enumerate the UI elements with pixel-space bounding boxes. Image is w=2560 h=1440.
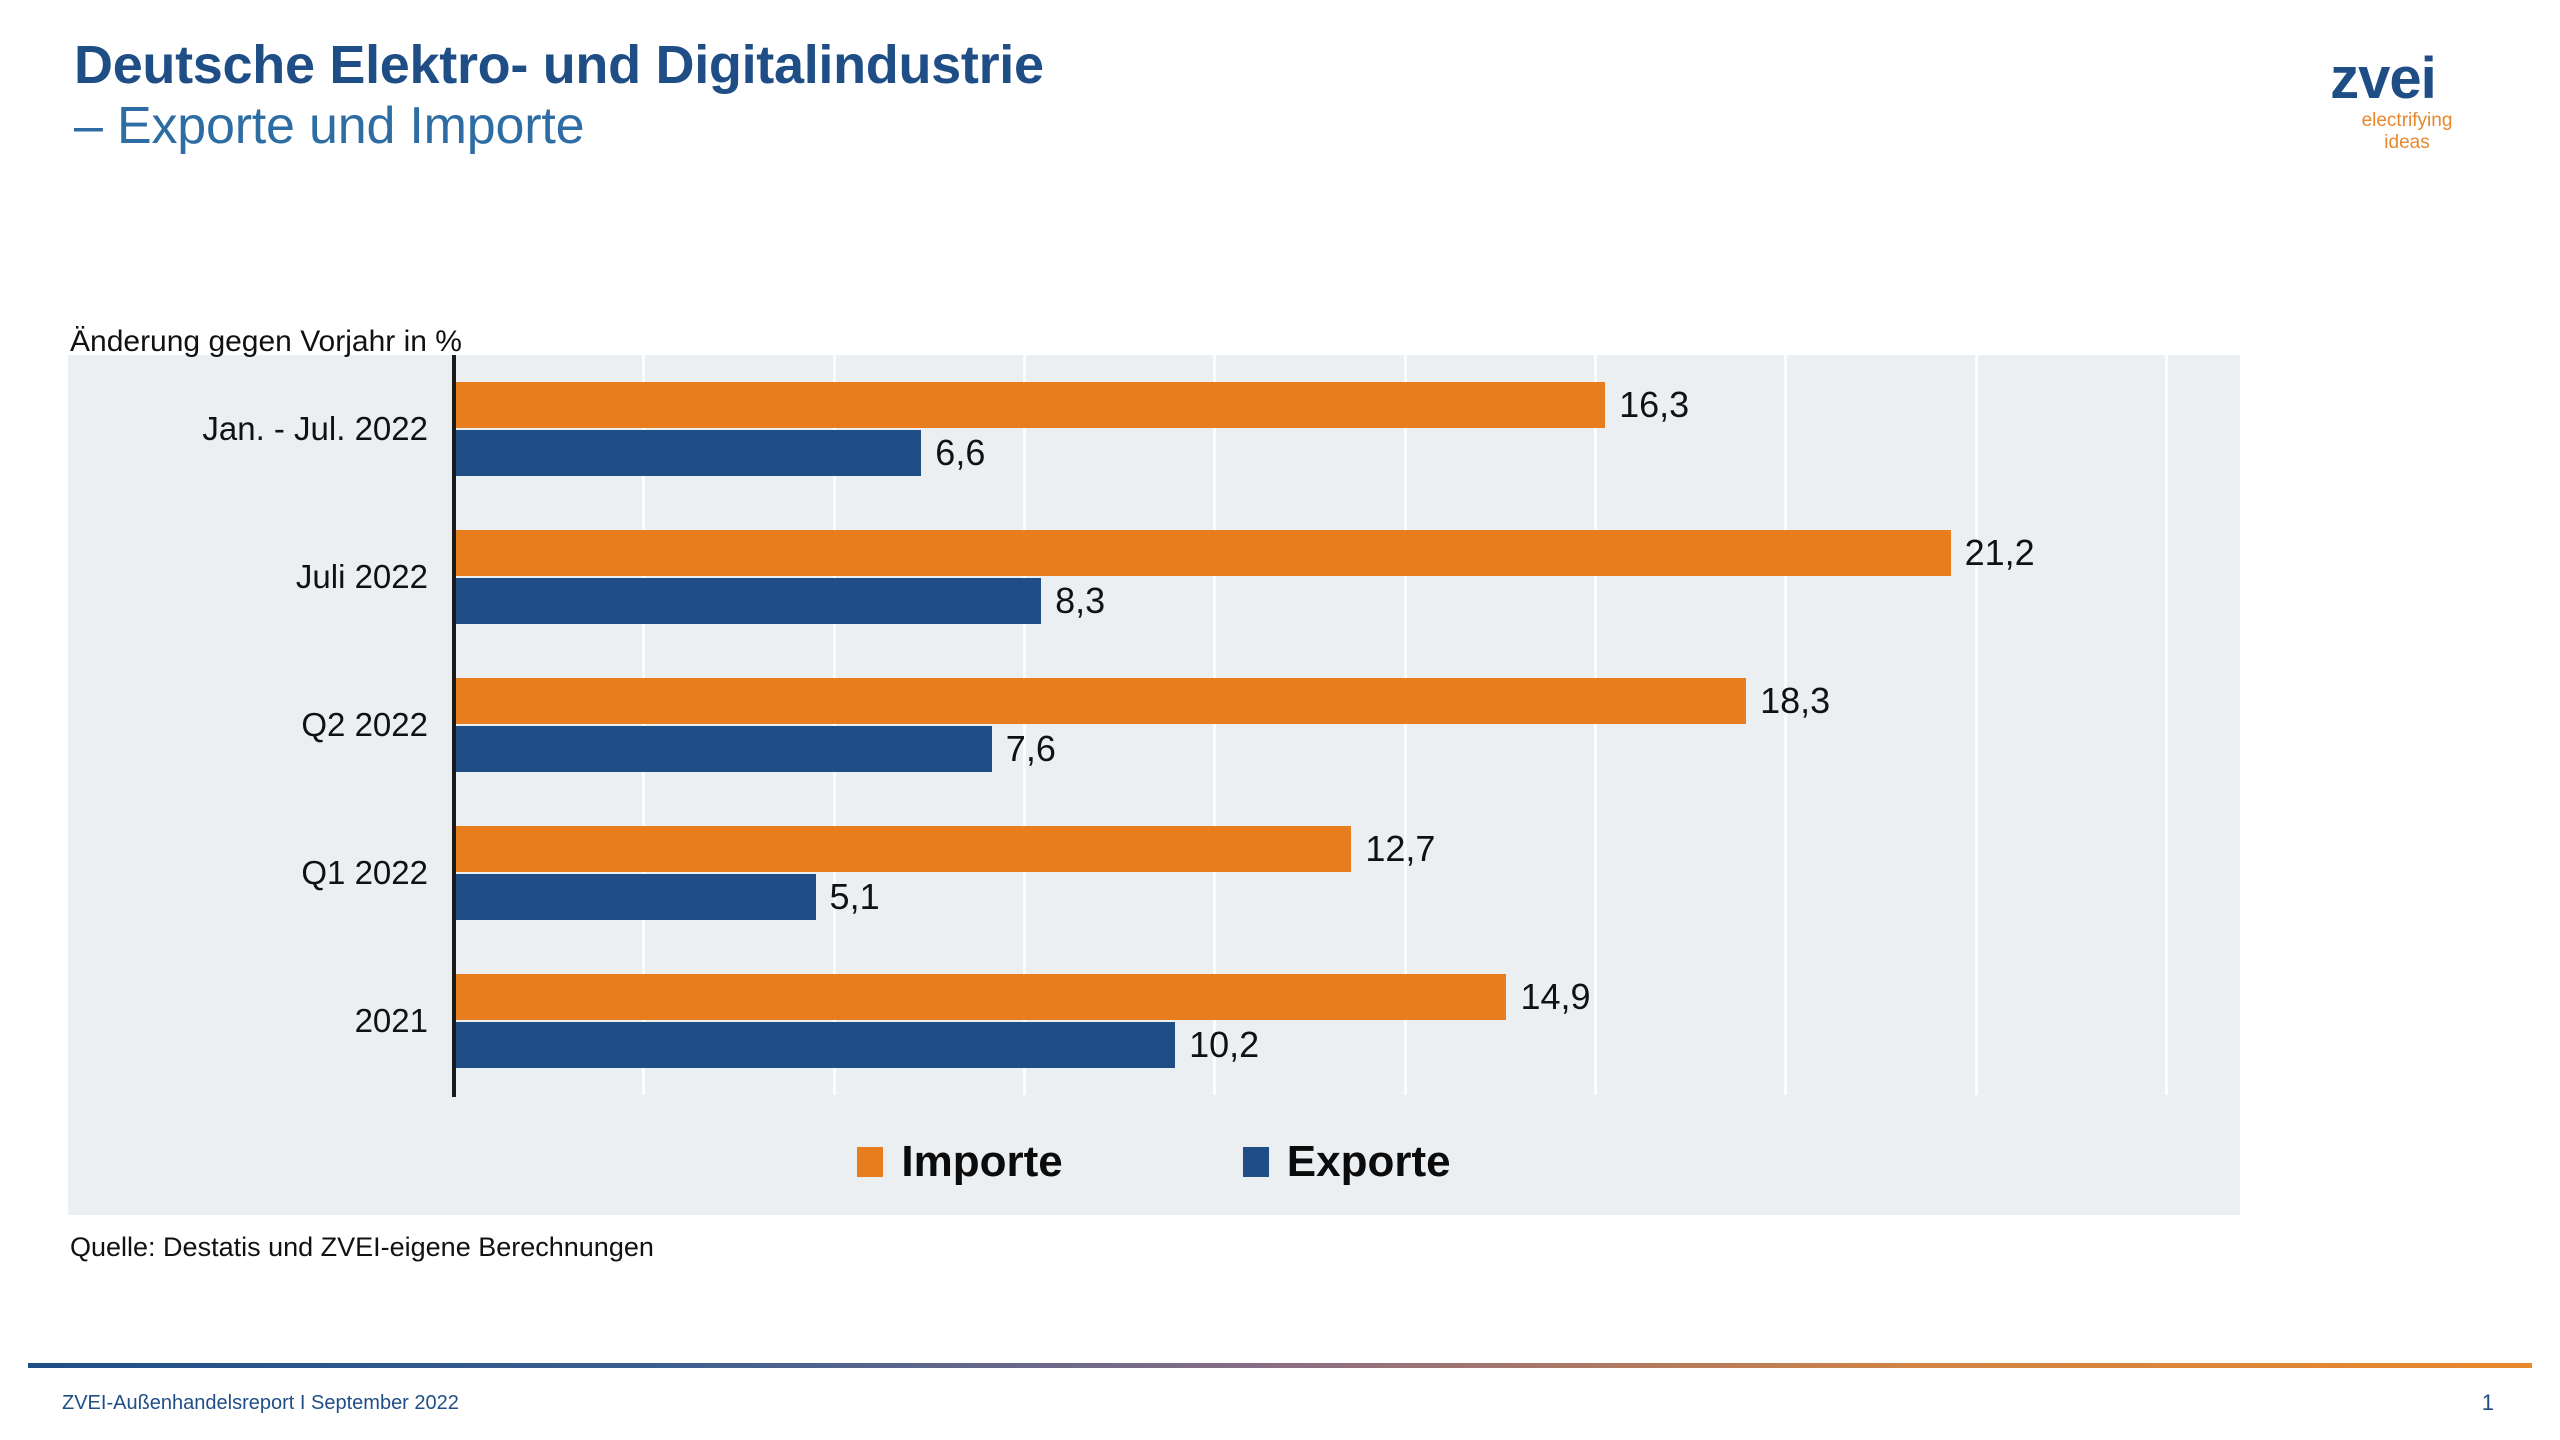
chart-bar-row: 14,9: [456, 974, 1591, 1020]
chart-bar-row: 18,3: [456, 678, 1830, 724]
footer-divider: [28, 1363, 2532, 1368]
chart-bar[interactable]: [456, 578, 1041, 624]
chart-bar-value-label: 7,6: [1006, 728, 1056, 770]
chart-bar[interactable]: [456, 874, 816, 920]
chart-bar-value-label: 16,3: [1619, 384, 1689, 426]
chart-bar-value-label: 5,1: [830, 876, 880, 918]
legend-swatch-importe-icon: [857, 1147, 883, 1177]
chart-bar[interactable]: [456, 726, 992, 772]
chart-bar[interactable]: [456, 826, 1351, 872]
chart-bar-group: Jan. - Jul. 202216,36,6: [68, 355, 2240, 503]
chart-bar[interactable]: [456, 430, 921, 476]
chart-bar-value-label: 8,3: [1055, 580, 1105, 622]
logo-tagline-line-1: electrifying: [2316, 110, 2498, 132]
chart-bar-row: 8,3: [456, 578, 1105, 624]
chart-bar-groups: Jan. - Jul. 202216,36,6Juli 202221,28,3Q…: [68, 355, 2240, 1095]
legend-item-importe[interactable]: Importe: [857, 1137, 1062, 1187]
chart-legend: Importe Exporte: [68, 1137, 2240, 1187]
logo-wordmark: zvei: [2268, 50, 2498, 108]
logo-tagline: electrifying ideas: [2268, 110, 2498, 154]
chart-category-label: Q1 2022: [68, 854, 428, 892]
legend-label-exporte: Exporte: [1287, 1137, 1451, 1187]
chart-bar-row: 10,2: [456, 1022, 1259, 1068]
chart-bar-row: 6,6: [456, 430, 985, 476]
chart-bar[interactable]: [456, 530, 1951, 576]
chart-bar-row: 7,6: [456, 726, 1056, 772]
chart-bar-row: 12,7: [456, 826, 1435, 872]
chart-category-label: 2021: [68, 1002, 428, 1040]
legend-item-exporte[interactable]: Exporte: [1243, 1137, 1451, 1187]
chart-bar-group: Q2 202218,37,6: [68, 651, 2240, 799]
footer-page-number: 1: [2482, 1390, 2494, 1416]
chart-plot-area: Jan. - Jul. 202216,36,6Juli 202221,28,3Q…: [68, 355, 2240, 1215]
chart-subtitle: Änderung gegen Vorjahr in %: [70, 325, 462, 359]
chart-category-label: Jan. - Jul. 2022: [68, 410, 428, 448]
chart-bar-row: 16,3: [456, 382, 1689, 428]
chart-category-label: Juli 2022: [68, 558, 428, 596]
chart-bar[interactable]: [456, 974, 1506, 1020]
chart-bar-value-label: 12,7: [1365, 828, 1435, 870]
legend-label-importe: Importe: [901, 1137, 1062, 1187]
title-line-2: – Exporte und Importe: [74, 98, 1044, 154]
page-title: Deutsche Elektro- und Digitalindustrie –…: [74, 36, 1044, 154]
chart-bar-value-label: 6,6: [935, 432, 985, 474]
zvei-logo: zvei electrifying ideas: [2268, 50, 2498, 154]
chart-bar-value-label: 18,3: [1760, 680, 1830, 722]
footer-report-label: ZVEI-Außenhandelsreport I September 2022: [62, 1392, 459, 1415]
logo-tagline-line-2: ideas: [2316, 132, 2498, 154]
chart-bar-row: 5,1: [456, 874, 880, 920]
chart-bar-value-label: 14,9: [1520, 976, 1590, 1018]
chart-bar-group: Q1 202212,75,1: [68, 799, 2240, 947]
legend-swatch-exporte-icon: [1243, 1147, 1269, 1177]
chart-bar-value-label: 10,2: [1189, 1024, 1259, 1066]
chart-bar-group: Juli 202221,28,3: [68, 503, 2240, 651]
chart-category-label: Q2 2022: [68, 706, 428, 744]
chart-bar[interactable]: [456, 678, 1746, 724]
chart-bar[interactable]: [456, 382, 1605, 428]
chart-bar-value-label: 21,2: [1965, 532, 2035, 574]
chart-bar-group: 202114,910,2: [68, 947, 2240, 1095]
source-note: Quelle: Destatis und ZVEI-eigene Berechn…: [70, 1232, 654, 1263]
chart-bar-row: 21,2: [456, 530, 2035, 576]
title-line-1: Deutsche Elektro- und Digitalindustrie: [74, 36, 1044, 94]
chart-bar[interactable]: [456, 1022, 1175, 1068]
